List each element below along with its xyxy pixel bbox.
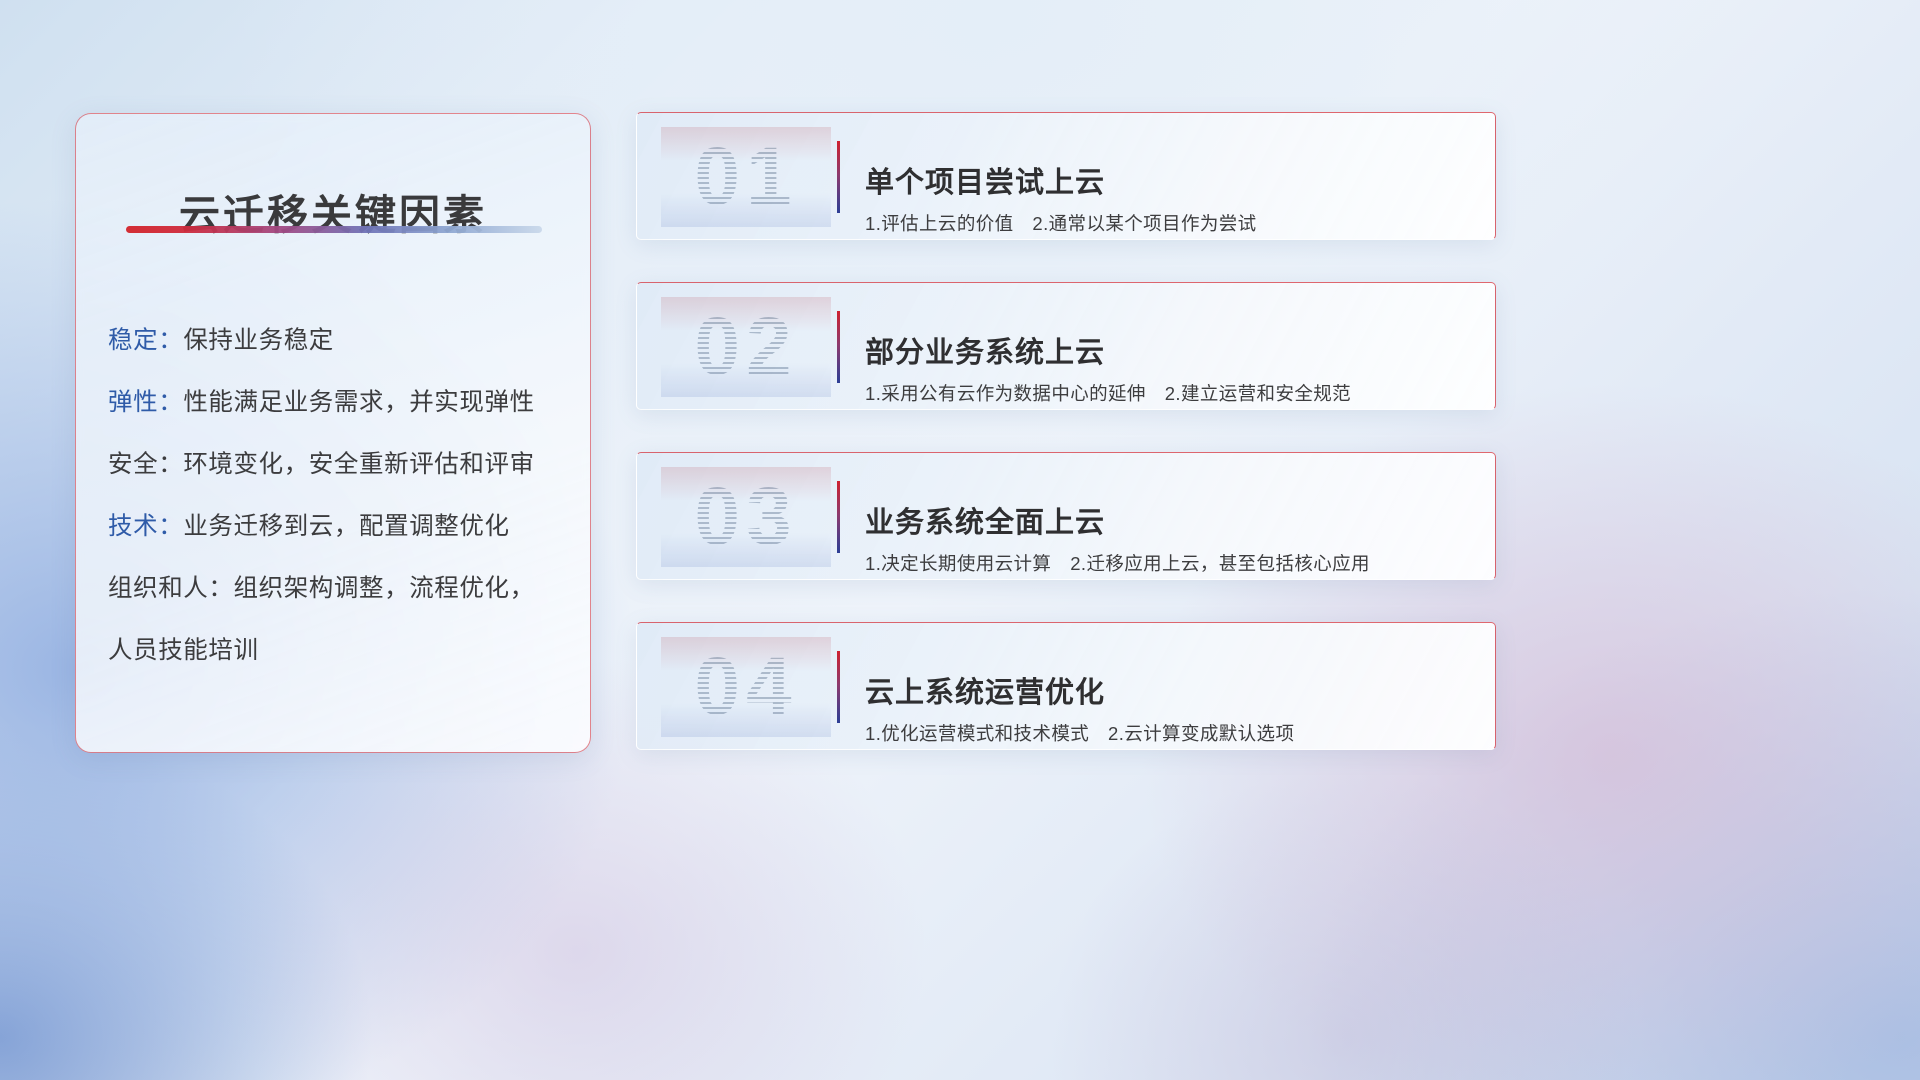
factor-key: 安全： bbox=[108, 451, 183, 478]
factor-row: 技术：业务迁移到云，配置调整优化 bbox=[108, 496, 572, 558]
factor-row: 弹性：性能满足业务需求，并实现弹性 bbox=[108, 372, 572, 434]
factor-key: 弹性： bbox=[108, 389, 183, 416]
migration-steps-list: 01单个项目尝试上云1.评估上云的价值 2.通常以某个项目作为尝试02部分业务系… bbox=[636, 112, 1496, 792]
factor-text: 保持业务稳定 bbox=[183, 327, 334, 354]
factor-text: 人员技能培训 bbox=[108, 637, 259, 664]
step-title: 单个项目尝试上云 bbox=[865, 159, 1105, 201]
factor-key: 稳定： bbox=[108, 327, 183, 354]
step-description: 1.决定长期使用云计算 2.迁移应用上云，甚至包括核心应用 bbox=[865, 550, 1370, 576]
factor-row: 安全：环境变化，安全重新评估和评审 bbox=[108, 434, 572, 496]
step-card[interactable]: 01单个项目尝试上云1.评估上云的价值 2.通常以某个项目作为尝试 bbox=[636, 112, 1496, 240]
factor-key: 组织和人： bbox=[108, 575, 234, 602]
key-factors-panel: 云迁移关键因素 稳定：保持业务稳定弹性：性能满足业务需求，并实现弹性安全：环境变… bbox=[75, 113, 591, 753]
factor-text: 业务迁移到云，配置调整优化 bbox=[183, 513, 509, 540]
step-card[interactable]: 04云上系统运营优化1.优化运营模式和技术模式 2.云计算变成默认选项 bbox=[636, 622, 1496, 750]
step-number: 01 bbox=[661, 127, 831, 227]
step-title: 业务系统全面上云 bbox=[865, 499, 1105, 541]
step-number: 04 bbox=[661, 637, 831, 737]
step-divider-bar bbox=[837, 651, 840, 723]
step-title: 部分业务系统上云 bbox=[865, 329, 1105, 371]
factor-text: 组织架构调整，流程优化， bbox=[234, 575, 535, 602]
step-divider-bar bbox=[837, 481, 840, 553]
step-description: 1.优化运营模式和技术模式 2.云计算变成默认选项 bbox=[865, 720, 1294, 746]
factor-row: 人员技能培训 bbox=[108, 620, 572, 682]
step-title: 云上系统运营优化 bbox=[865, 669, 1105, 711]
step-description: 1.采用公有云作为数据中心的延伸 2.建立运营和安全规范 bbox=[865, 380, 1351, 406]
factor-text: 环境变化，安全重新评估和评审 bbox=[183, 451, 534, 478]
title-underline-rule bbox=[126, 226, 542, 233]
step-number: 03 bbox=[661, 467, 831, 567]
factor-key: 技术： bbox=[108, 513, 183, 540]
factor-list: 稳定：保持业务稳定弹性：性能满足业务需求，并实现弹性安全：环境变化，安全重新评估… bbox=[108, 310, 572, 682]
step-number: 02 bbox=[661, 297, 831, 397]
factor-row: 稳定：保持业务稳定 bbox=[108, 310, 572, 372]
step-card[interactable]: 03业务系统全面上云1.决定长期使用云计算 2.迁移应用上云，甚至包括核心应用 bbox=[636, 452, 1496, 580]
step-divider-bar bbox=[837, 141, 840, 213]
factor-row: 组织和人：组织架构调整，流程优化， bbox=[108, 558, 572, 620]
step-divider-bar bbox=[837, 311, 840, 383]
step-description: 1.评估上云的价值 2.通常以某个项目作为尝试 bbox=[865, 210, 1257, 236]
step-card[interactable]: 02部分业务系统上云1.采用公有云作为数据中心的延伸 2.建立运营和安全规范 bbox=[636, 282, 1496, 410]
factor-text: 性能满足业务需求，并实现弹性 bbox=[183, 389, 534, 416]
